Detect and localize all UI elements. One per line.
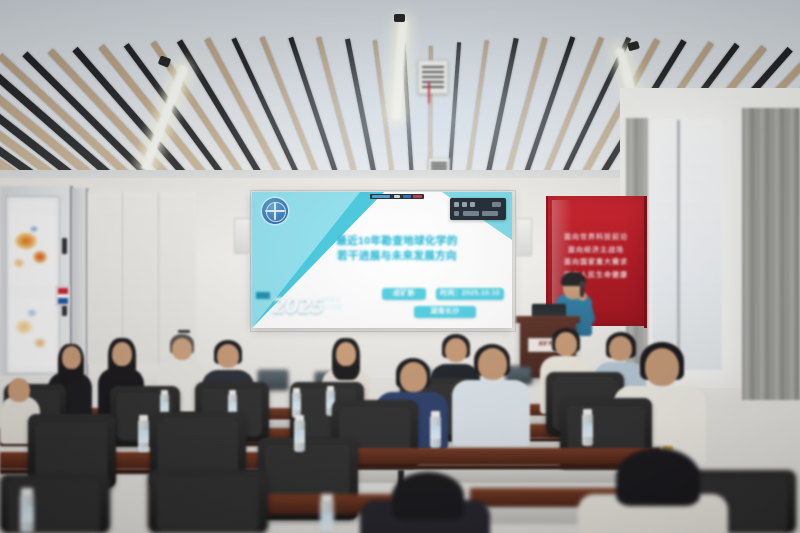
foreground-shading — [0, 413, 800, 533]
lecture-hall-photo: 面向世界科技前沿 面向经济主战场 面向国家重大需求 面向人民生命健康 最近10年… — [0, 0, 800, 533]
microphone-head — [579, 281, 586, 288]
